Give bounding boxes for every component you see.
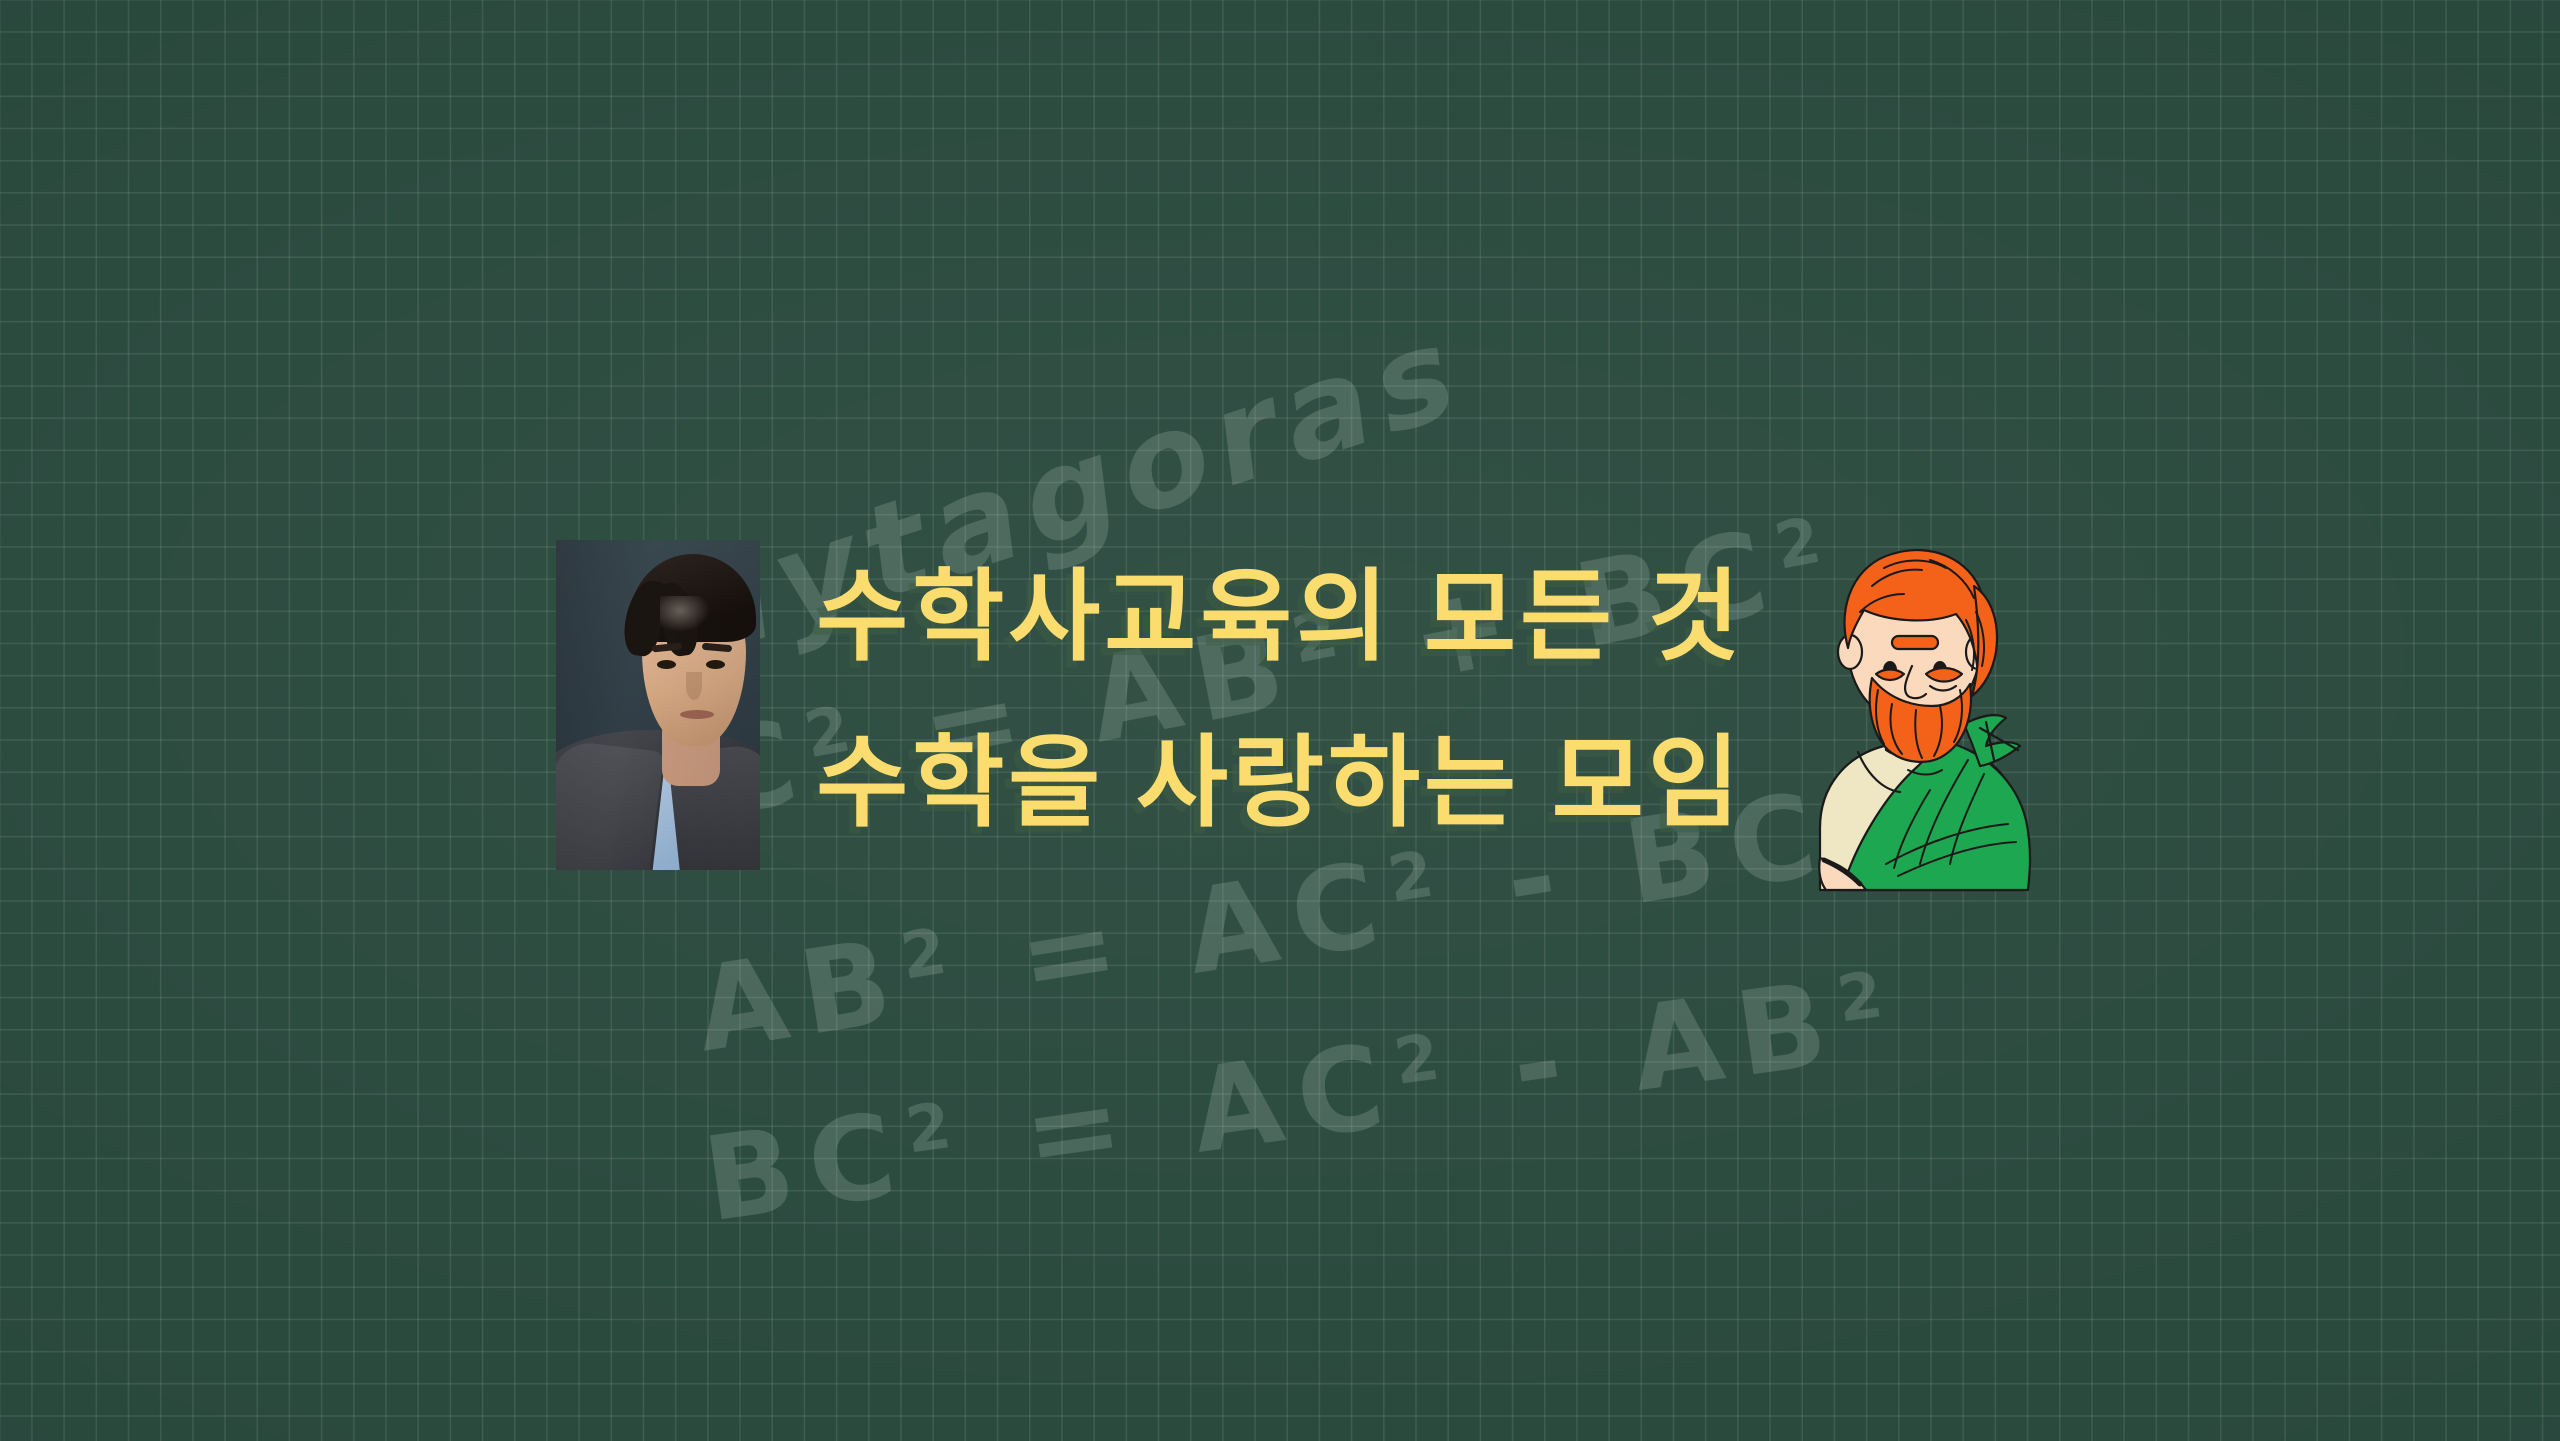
pythagoras-moustache-left [1876, 670, 1904, 681]
headline-block: 수학사교육의 모든 것 수학을 사랑하는 모임 [0, 556, 2560, 844]
chalkboard-vignette [0, 0, 2560, 1441]
pythagoras-brow-accent [1892, 636, 1938, 649]
pythagoras-illustration [1780, 528, 2048, 890]
chalk-writing-layer: Phytagoras C2 = AB2 + BC2 AB2 = AC2 - BC… [0, 0, 2560, 1441]
chalk-equation-1: C2 = AB2 + BC2 [699, 501, 1850, 834]
slide-canvas: Phytagoras C2 = AB2 + BC2 AB2 = AC2 - BC… [0, 0, 2560, 1441]
headline-line-1: 수학사교육의 모든 것 [0, 556, 2560, 678]
chalk-equation-3: BC2 = AC2 - AB2 [698, 957, 1909, 1240]
instructor-portrait [556, 540, 760, 870]
portrait-shading [556, 540, 760, 870]
chalkboard-grid [0, 0, 2560, 1441]
chalk-equation-2: AB2 = AC2 - BC2 [688, 766, 1898, 1069]
headline-line-2: 수학을 사랑하는 모임 [0, 722, 2560, 844]
